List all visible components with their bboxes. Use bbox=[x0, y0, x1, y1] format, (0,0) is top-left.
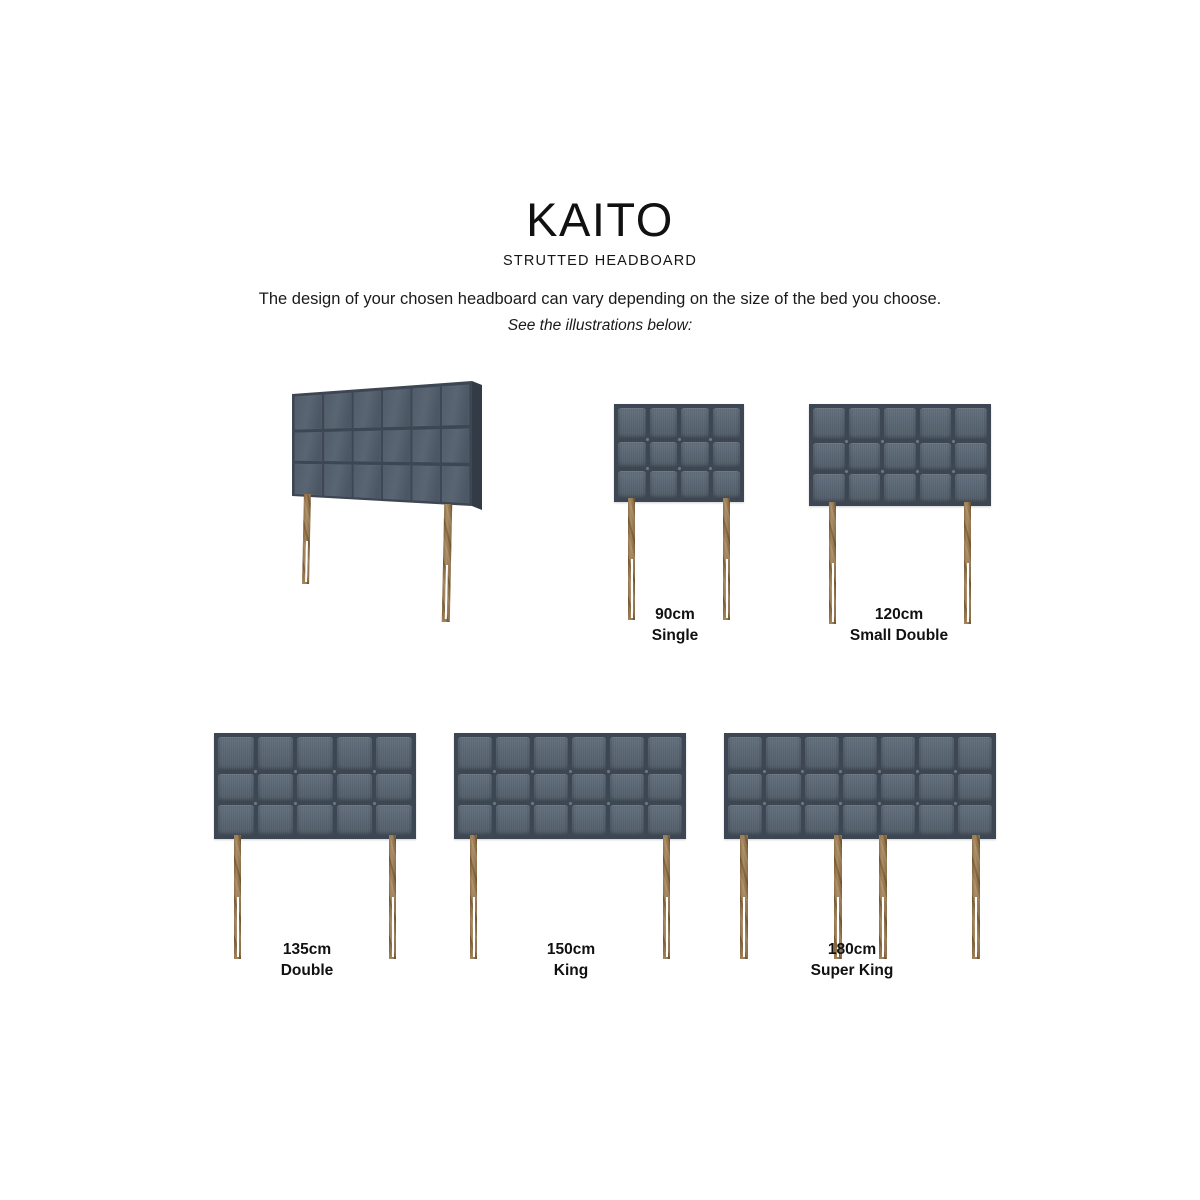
panel-stitch-dot bbox=[373, 770, 376, 773]
page-header: KAITO STRUTTED HEADBOARD The design of y… bbox=[0, 196, 1200, 335]
variant-king-graphic bbox=[454, 733, 686, 963]
headboard-strut bbox=[740, 835, 748, 959]
headboard-panel bbox=[218, 737, 254, 770]
intro-italic-text: See the illustrations below: bbox=[0, 317, 1200, 335]
panel-stitch-dot bbox=[916, 802, 919, 805]
panel-stitch-dot bbox=[878, 770, 881, 773]
headboard-panel bbox=[919, 737, 953, 770]
strut-adjustment-slot bbox=[305, 541, 308, 582]
headboard-panel bbox=[843, 774, 877, 802]
panel-stitch-dot bbox=[645, 770, 648, 773]
hero-headboard-panel bbox=[354, 431, 381, 462]
headboard-panel bbox=[805, 737, 839, 770]
headboard-panel bbox=[805, 805, 839, 835]
headboard-panel bbox=[766, 805, 800, 835]
headboard-panel bbox=[958, 805, 992, 835]
intro-text: The design of your chosen headboard can … bbox=[0, 290, 1200, 309]
variant-double-size: 135cm bbox=[208, 939, 406, 960]
headboard-panel bbox=[650, 442, 678, 467]
hero-headboard-panel bbox=[324, 464, 351, 497]
headboard-panel bbox=[919, 774, 953, 802]
headboard-panel bbox=[458, 737, 492, 770]
hero-headboard-illustration bbox=[276, 372, 491, 622]
panel-stitch-dot bbox=[373, 802, 376, 805]
headboard-panel bbox=[681, 408, 709, 438]
variant-king-name: King bbox=[472, 960, 670, 981]
headboard-panel bbox=[920, 408, 952, 439]
hero-headboard-panel bbox=[413, 466, 440, 502]
headboard-panel bbox=[849, 408, 881, 439]
headboard-panel-grid bbox=[809, 404, 991, 506]
product-subtitle: STRUTTED HEADBOARD bbox=[0, 253, 1200, 269]
headboard-panel bbox=[297, 774, 333, 802]
panel-stitch-dot bbox=[607, 770, 610, 773]
panel-stitch-dot bbox=[646, 438, 649, 441]
hero-headboard-panel bbox=[295, 432, 322, 461]
variant-king-illustration bbox=[454, 733, 686, 963]
headboard-panel bbox=[843, 805, 877, 835]
panel-stitch-dot bbox=[801, 802, 804, 805]
panel-stitch-dot bbox=[839, 770, 842, 773]
headboard-panel bbox=[728, 774, 762, 802]
panel-stitch-dot bbox=[607, 802, 610, 805]
headboard-panel bbox=[610, 805, 644, 835]
hero-headboard-panel bbox=[354, 391, 381, 428]
hero-headboard-panel bbox=[295, 395, 322, 430]
panel-stitch-dot bbox=[916, 470, 919, 473]
headboard-panel bbox=[881, 737, 915, 770]
panel-stitch-dot bbox=[954, 802, 957, 805]
headboard-panel bbox=[881, 805, 915, 835]
headboard-panel bbox=[955, 408, 987, 439]
headboard-panel bbox=[884, 408, 916, 439]
headboard-panel bbox=[376, 774, 412, 802]
variant-single-caption: 90cm Single bbox=[576, 604, 774, 647]
variant-small-double-illustration bbox=[809, 404, 991, 628]
panel-stitch-dot bbox=[294, 802, 297, 805]
headboard-panel bbox=[849, 474, 881, 503]
hero-headboard-panel bbox=[413, 429, 440, 462]
variant-single-name: Single bbox=[576, 625, 774, 646]
panel-stitch-dot bbox=[254, 770, 257, 773]
headboard-panel bbox=[297, 737, 333, 770]
variant-double-caption: 135cm Double bbox=[208, 939, 406, 982]
headboard-panel bbox=[648, 805, 682, 835]
headboard-panel bbox=[805, 774, 839, 802]
panel-stitch-dot bbox=[709, 467, 712, 470]
headboard-panel bbox=[849, 443, 881, 469]
headboard-panel bbox=[618, 408, 646, 438]
variant-super-king-caption: 180cm Super King bbox=[753, 939, 951, 982]
headboard-panel-grid bbox=[454, 733, 686, 839]
headboard-panel bbox=[919, 805, 953, 835]
panel-stitch-dot bbox=[678, 467, 681, 470]
headboard-panel bbox=[955, 443, 987, 469]
headboard-panel bbox=[534, 805, 568, 835]
headboard-panel bbox=[648, 774, 682, 802]
variant-small-double-name: Small Double bbox=[800, 625, 998, 646]
headboard-panel bbox=[650, 471, 678, 498]
hero-board-side-face bbox=[472, 381, 482, 510]
panel-stitch-dot bbox=[916, 440, 919, 443]
headboard-panel bbox=[881, 774, 915, 802]
headboard-panel bbox=[728, 805, 762, 835]
headboard-panel bbox=[572, 805, 606, 835]
headboard-panel bbox=[955, 474, 987, 503]
hero-headboard-panel bbox=[413, 387, 440, 427]
headboard-panel bbox=[337, 805, 373, 835]
panel-stitch-dot bbox=[645, 802, 648, 805]
hero-headboard-panel bbox=[442, 385, 469, 426]
hero-headboard-panel bbox=[324, 431, 351, 461]
variant-super-king-name: Super King bbox=[753, 960, 951, 981]
headboard-panel bbox=[496, 737, 530, 770]
headboard-panel bbox=[681, 442, 709, 467]
headboard-panel bbox=[258, 737, 294, 770]
headboard-panel bbox=[458, 805, 492, 835]
headboard-panel bbox=[218, 774, 254, 802]
variant-small-double-caption: 120cm Small Double bbox=[800, 604, 998, 647]
headboard-panel-grid bbox=[214, 733, 416, 839]
variant-super-king-illustration bbox=[724, 733, 996, 963]
variant-small-double-size: 120cm bbox=[800, 604, 998, 625]
headboard-panel bbox=[884, 443, 916, 469]
headboard-panel bbox=[650, 408, 678, 438]
headboard-panel bbox=[337, 774, 373, 802]
headboard-panel bbox=[728, 737, 762, 770]
panel-stitch-dot bbox=[839, 802, 842, 805]
headboard-panel bbox=[610, 774, 644, 802]
hero-headboard-panel bbox=[324, 393, 351, 429]
headboard-panel bbox=[958, 737, 992, 770]
headboard-panel bbox=[496, 805, 530, 835]
headboard-panel bbox=[813, 474, 845, 503]
variant-double-graphic bbox=[214, 733, 416, 963]
variant-king-size: 150cm bbox=[472, 939, 670, 960]
headboard-panel bbox=[766, 737, 800, 770]
headboard-panel bbox=[843, 737, 877, 770]
panel-stitch-dot bbox=[294, 770, 297, 773]
headboard-panel bbox=[920, 474, 952, 503]
headboard-panel bbox=[534, 774, 568, 802]
headboard-panel bbox=[458, 774, 492, 802]
panel-stitch-dot bbox=[763, 770, 766, 773]
panel-stitch-dot bbox=[493, 802, 496, 805]
hero-headboard-panel bbox=[383, 465, 410, 500]
hero-headboard-panel bbox=[442, 466, 469, 503]
hero-headboard-panel bbox=[295, 464, 322, 495]
panel-stitch-dot bbox=[878, 802, 881, 805]
headboard-panel bbox=[258, 774, 294, 802]
headboard-panel bbox=[884, 474, 916, 503]
headboard-panel bbox=[713, 408, 741, 438]
headboard-panel bbox=[218, 805, 254, 835]
headboard-strut bbox=[628, 498, 635, 620]
panel-stitch-dot bbox=[333, 770, 336, 773]
variant-single-illustration bbox=[614, 404, 744, 624]
hero-headboard-graphic bbox=[276, 372, 491, 622]
headboard-panel bbox=[920, 443, 952, 469]
hero-headboard-panel bbox=[383, 389, 410, 427]
panel-stitch-dot bbox=[646, 467, 649, 470]
headboard-panel bbox=[258, 805, 294, 835]
variant-single-size: 90cm bbox=[576, 604, 774, 625]
panel-stitch-dot bbox=[678, 438, 681, 441]
panel-stitch-dot bbox=[254, 802, 257, 805]
panel-stitch-dot bbox=[763, 802, 766, 805]
strut-adjustment-slot bbox=[975, 897, 977, 957]
variant-double-name: Double bbox=[208, 960, 406, 981]
headboard-panel bbox=[297, 805, 333, 835]
strut-adjustment-slot bbox=[445, 565, 448, 619]
hero-headboard-panel bbox=[383, 430, 410, 462]
headboard-panel bbox=[572, 774, 606, 802]
variant-super-king-graphic bbox=[724, 733, 996, 963]
variant-single-graphic bbox=[614, 404, 744, 624]
headboard-panel bbox=[376, 737, 412, 770]
headboard-panel bbox=[610, 737, 644, 770]
headboard-panel bbox=[958, 774, 992, 802]
strut-adjustment-slot bbox=[743, 897, 745, 957]
panel-stitch-dot bbox=[881, 440, 884, 443]
headboard-panel bbox=[572, 737, 606, 770]
panel-stitch-dot bbox=[881, 470, 884, 473]
variant-king-caption: 150cm King bbox=[472, 939, 670, 982]
panel-stitch-dot bbox=[954, 770, 957, 773]
panel-stitch-dot bbox=[531, 802, 534, 805]
headboard-panel bbox=[713, 442, 741, 467]
panel-stitch-dot bbox=[845, 470, 848, 473]
headboard-panel bbox=[337, 737, 373, 770]
page-title: KAITO bbox=[0, 196, 1200, 244]
headboard-panel bbox=[534, 737, 568, 770]
panel-stitch-dot bbox=[801, 770, 804, 773]
headboard-panel bbox=[813, 443, 845, 469]
headboard-strut bbox=[723, 498, 730, 620]
variant-super-king-size: 180cm bbox=[753, 939, 951, 960]
panel-stitch-dot bbox=[709, 438, 712, 441]
headboard-strut bbox=[972, 835, 980, 959]
headboard-panel-grid bbox=[724, 733, 996, 839]
panel-stitch-dot bbox=[569, 770, 572, 773]
headboard-panel bbox=[618, 442, 646, 467]
panel-stitch-dot bbox=[952, 440, 955, 443]
hero-headboard-panel bbox=[442, 429, 469, 463]
headboard-panel bbox=[376, 805, 412, 835]
headboard-panel bbox=[496, 774, 530, 802]
panel-stitch-dot bbox=[493, 770, 496, 773]
panel-stitch-dot bbox=[845, 440, 848, 443]
panel-stitch-dot bbox=[333, 802, 336, 805]
variant-small-double-graphic bbox=[809, 404, 991, 628]
headboard-panel-grid bbox=[614, 404, 744, 502]
panel-stitch-dot bbox=[569, 802, 572, 805]
hero-headboard-panel bbox=[354, 465, 381, 499]
variant-double-illustration bbox=[214, 733, 416, 963]
headboard-panel bbox=[813, 408, 845, 439]
panel-stitch-dot bbox=[531, 770, 534, 773]
headboard-panel bbox=[681, 471, 709, 498]
headboard-panel bbox=[766, 774, 800, 802]
headboard-panel bbox=[648, 737, 682, 770]
panel-stitch-dot bbox=[916, 770, 919, 773]
panel-stitch-dot bbox=[952, 470, 955, 473]
headboard-panel bbox=[713, 471, 741, 498]
headboard-panel bbox=[618, 471, 646, 498]
